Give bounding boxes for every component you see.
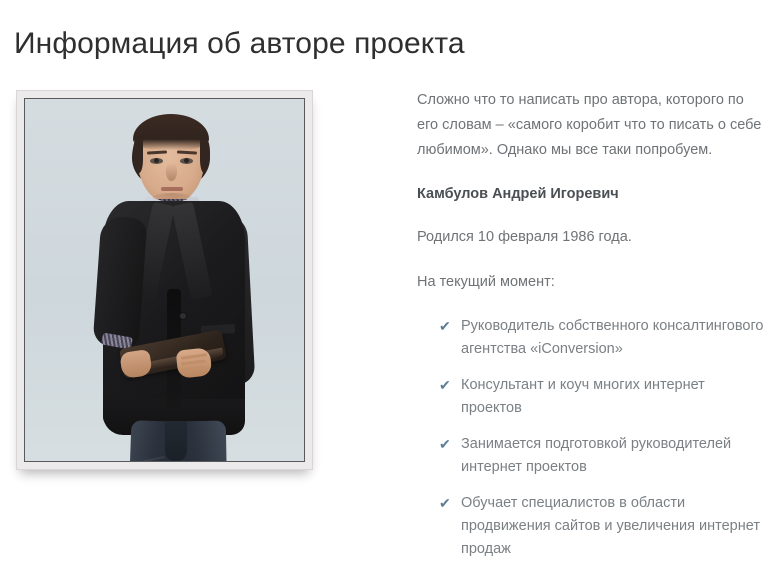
figure-sideburn-left <box>133 139 143 173</box>
list-item-label: Обучает специалистов в области продвижен… <box>461 495 760 557</box>
figure-left-arm <box>93 216 148 349</box>
author-name: Камбулов Андрей Игоревич <box>417 183 767 205</box>
list-item: ✔ Консультант и коуч многих интернет про… <box>439 374 767 420</box>
figure-hair-fringe <box>133 114 209 150</box>
page-title: Информация об авторе проекта <box>14 24 465 64</box>
birth-paragraph: Родился 10 февраля 1986 года. <box>417 225 767 250</box>
check-icon: ✔ <box>439 434 451 455</box>
check-icon: ✔ <box>439 493 451 514</box>
check-icon: ✔ <box>439 375 451 396</box>
author-info-page: Информация об авторе проекта <box>0 0 780 488</box>
intro-paragraph: Сложно что то написать про автора, котор… <box>417 88 767 163</box>
figure-jacket-button <box>180 313 186 319</box>
author-figure-illustration <box>25 99 304 461</box>
check-icon: ✔ <box>439 316 451 337</box>
figure-jeans-seam <box>165 421 187 461</box>
current-status-heading: На текущий момент: <box>417 270 767 295</box>
list-item: ✔ Руководитель собственного консалтингов… <box>439 315 767 361</box>
list-item-label: Руководитель собственного консалтинговог… <box>461 318 763 357</box>
list-item: ✔ Занимается подготовкой руководителей и… <box>439 433 767 479</box>
author-photo-frame <box>16 90 313 470</box>
author-photo <box>24 98 305 462</box>
figure-sideburn-right <box>200 139 210 173</box>
achievements-list: ✔ Руководитель собственного консалтингов… <box>417 315 767 561</box>
figure-mouth <box>161 187 183 191</box>
figure-pupil-right <box>184 158 189 163</box>
figure-pupil-left <box>154 158 159 163</box>
author-bio-content: Сложно что то написать про автора, котор… <box>417 88 767 574</box>
list-item-label: Занимается подготовкой руководителей инт… <box>461 436 731 475</box>
figure-nose <box>166 163 177 181</box>
list-item: ✔ Обучает специалистов в области продвиж… <box>439 492 767 561</box>
list-item-label: Консультант и коуч многих интернет проек… <box>461 377 705 416</box>
